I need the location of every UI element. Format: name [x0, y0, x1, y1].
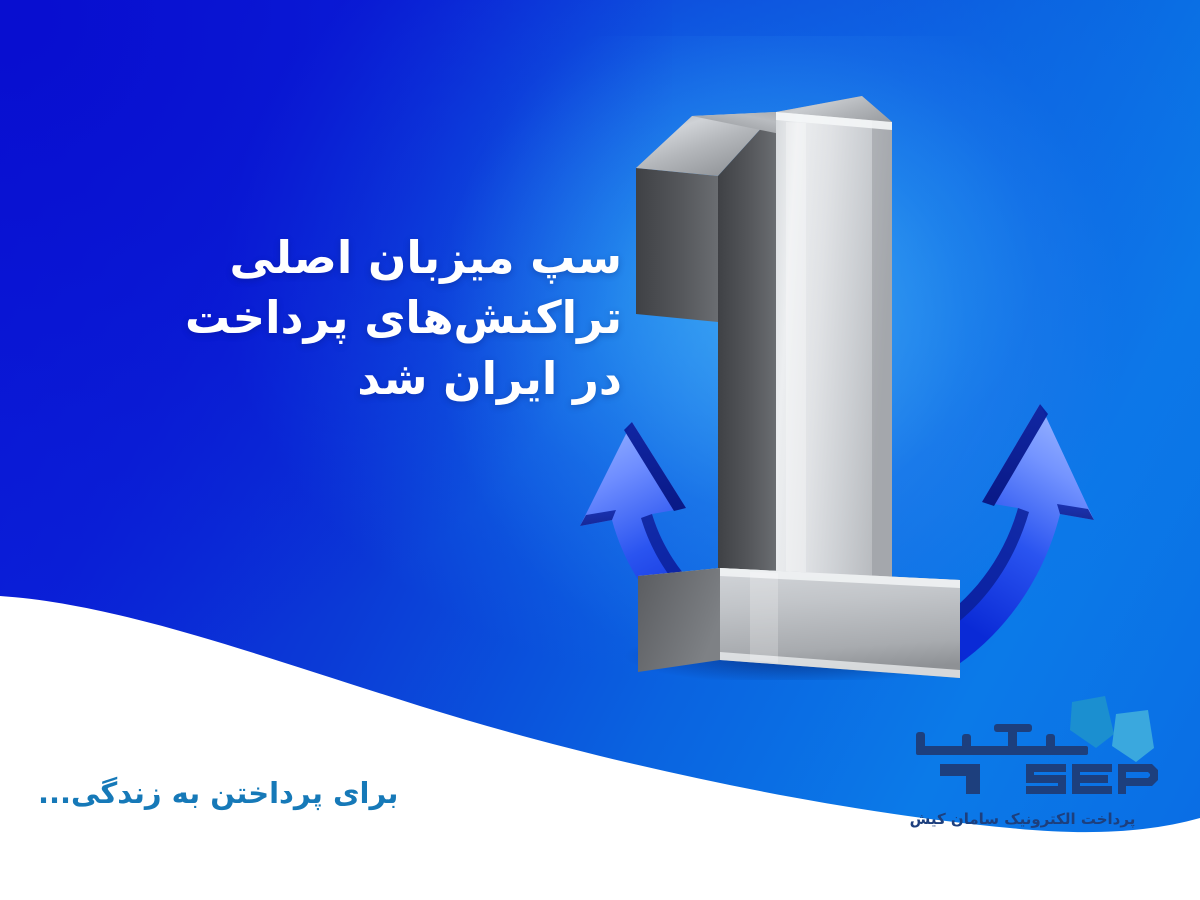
banner-root: سپ میزبان اصلی تراکنش‌های پرداخت در ایرا… — [0, 0, 1200, 900]
logo-hook-glyph — [940, 764, 980, 794]
logo-latin-wordmark — [1026, 764, 1158, 794]
sep-logo[interactable]: پرداخت الکترونیک سامان کیش — [900, 690, 1165, 850]
logo-persian-wordmark — [916, 724, 1088, 755]
headline-line-1: سپ میزبان اصلی — [185, 228, 622, 288]
headline-line-2: تراکنش‌های پرداخت — [185, 288, 622, 348]
slogan-text: برای پرداختن به زندگی... — [38, 776, 398, 810]
sep-logo-mark — [900, 690, 1165, 810]
logo-tagline: پرداخت الکترونیک سامان کیش — [900, 810, 1145, 828]
headline: سپ میزبان اصلی تراکنش‌های پرداخت در ایرا… — [185, 228, 622, 409]
headline-line-3: در ایران شد — [185, 349, 622, 409]
